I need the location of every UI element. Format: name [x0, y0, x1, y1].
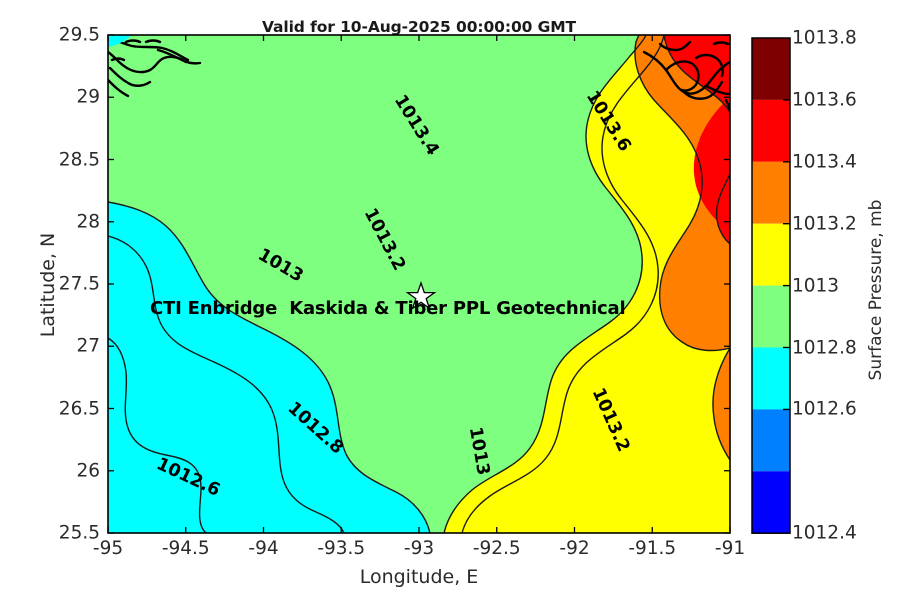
colorbar-band-1012-8	[752, 348, 790, 410]
colorbar-tick-label-4: 1013	[792, 275, 839, 296]
colorbar-band-1012-6	[752, 409, 790, 471]
colorbar-tick-label-0: 1013.8	[792, 28, 857, 49]
colorbar-tick-label-7: 1012.4	[792, 523, 857, 544]
colorbar-band-1013-4	[752, 162, 790, 224]
xtick-label-7: -91.5	[628, 538, 676, 559]
ytick-label-8: 29.5	[59, 25, 100, 46]
ytick-label-6: 28.5	[59, 149, 100, 170]
xtick-label-1: -94.5	[162, 538, 210, 559]
colorbar-tick-label-2: 1013.4	[792, 151, 857, 172]
ytick-label-5: 28	[76, 211, 100, 232]
colorbar-tick-label-3: 1013.2	[792, 213, 857, 234]
contour-fill-group: 1013.4 1013.6 1013.2 1013 1012.8 1012.6 …	[108, 35, 756, 533]
xtick-label-3: -93.5	[317, 538, 365, 559]
colorbar-band-1013-8	[752, 38, 790, 100]
xtick-label-6: -92	[559, 538, 589, 559]
y-axis-label: Latitude, N	[37, 155, 59, 415]
colorbar-tick-label-5: 1012.8	[792, 337, 857, 358]
surface-pressure-contour-figure: Valid for 10-Aug-2025 00:00:00 GMT	[0, 0, 900, 600]
colorbar-tick-label-6: 1012.6	[792, 399, 857, 420]
x-axis-label: Longitude, E	[108, 566, 730, 588]
xtick-label-5: -92.5	[473, 538, 521, 559]
xtick-label-4: -93	[404, 538, 434, 559]
colorbar-band-1012-4	[752, 471, 790, 533]
site-annotation-label: CTI Enbridge Kaskida & Tiber PPL Geotech…	[150, 298, 625, 319]
xtick-label-8: -91	[715, 538, 745, 559]
colorbar-tick-label-1: 1013.6	[792, 89, 857, 110]
ytick-label-4: 27.5	[59, 274, 100, 295]
ytick-label-3: 27	[76, 336, 100, 357]
colorbar-band-1013-6	[752, 100, 790, 162]
ytick-label-2: 26.5	[59, 398, 100, 419]
colorbar-band-1013-2	[752, 224, 790, 286]
colorbar	[752, 38, 790, 533]
ytick-label-1: 26	[76, 460, 100, 481]
colorbar-band-1013	[752, 286, 790, 348]
ytick-label-0: 25.5	[59, 523, 100, 544]
xtick-label-2: -94	[248, 538, 278, 559]
ytick-label-7: 29	[76, 87, 100, 108]
colorbar-axis-label: Surface Pressure, mb	[866, 140, 886, 440]
